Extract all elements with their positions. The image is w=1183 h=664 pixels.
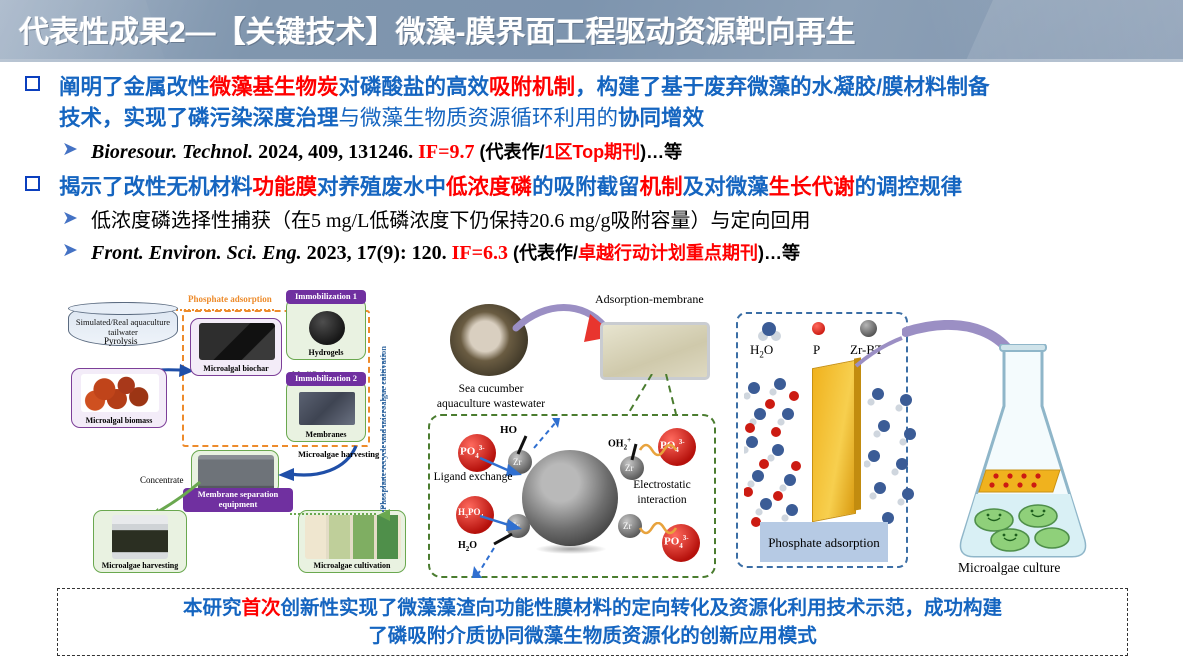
citation-detail: 2023, 17(9): 120. [302, 242, 452, 264]
text-run: 深度治理 [253, 106, 339, 130]
square-bullet-icon [25, 76, 40, 91]
zoom-connector-icon [616, 374, 686, 416]
text-run: 创新性实现了微藻藻渣向功能性膜材料的定向转化及资源化利用技术示范，成功构建 [281, 597, 1003, 619]
text-run: 机制 [640, 175, 683, 199]
ligand-arrow-2-icon [478, 510, 530, 536]
release-arrow-2-icon [470, 546, 506, 584]
recycle-label: Phosphate recycle and microalgae cultiva… [378, 346, 388, 510]
bullet-1-line-1: 阐明了金属改性微藻基生物炭对磷酸盐的高效吸附机制，构建了基于废弃微藻的水凝胶/膜… [59, 75, 990, 99]
microalgal-biomass-card: Microalgal biomass [71, 368, 167, 428]
bullet-1: 阐明了金属改性微藻基生物炭对磷酸盐的高效吸附机制，构建了基于废弃微藻的水凝胶/膜… [0, 72, 1183, 103]
reference-1: ➤ Bioresour. Technol. 2024, 409, 131246.… [0, 138, 1183, 167]
biochar-caption: Microalgal biochar [191, 364, 281, 373]
harvesting-bottle-caption: Microalgae harvesting [94, 561, 186, 570]
arrow-bullet-icon: ➤ [62, 241, 78, 260]
pyrolysis-label: Pyrolysis [104, 336, 138, 346]
equipment-image [198, 455, 274, 491]
adsorption-membrane-image [600, 322, 710, 380]
journal-tier-badge: 卓越行动计划重点期刊 [578, 243, 758, 263]
text-run: 低浓度磷 [446, 175, 532, 199]
hydrogels-card: Hydrogels [286, 298, 366, 360]
page-title: 代表性成果2—【关键技术】微藻-膜界面工程驱动资源靶向再生 [19, 7, 856, 51]
text-run: ，构建了基于废弃微藻的水凝胶/膜材料制备 [575, 75, 989, 99]
ligand-exchange-label: Ligand exchange [432, 470, 514, 485]
electrostatic-interaction-label: Electrostatic interaction [616, 478, 708, 508]
text-run: 阐明了金属改性 [59, 75, 210, 99]
electrostatic-wave-2-icon [638, 522, 688, 548]
phosphate-adsorption-connector [176, 309, 274, 311]
h2o-molecule-icon [754, 320, 784, 342]
text-run: 对磷酸盐的高效 [339, 75, 490, 99]
text-run: 生长代谢 [769, 175, 855, 199]
immobilization-1-badge: Immobilization 1 [286, 290, 366, 304]
text-run: 吸附机制 [489, 75, 575, 99]
biochar-image [199, 323, 275, 360]
arrow-bullet-icon: ➤ [62, 140, 78, 159]
legend-h2o-label: H2O [750, 342, 773, 360]
microalgae-culture-caption: Microalgae culture [958, 560, 1060, 576]
figure-graphic: Phosphate adsorption Simulated/Real aqua… [60, 292, 1138, 582]
membranes-caption: Membranes [287, 430, 365, 439]
journal-name: Bioresour. Technol. [91, 141, 253, 163]
legend-zrbt-icon [860, 320, 877, 337]
impact-factor: IF=6.3 [452, 242, 508, 264]
concentrate-label: Concentrate [140, 475, 183, 485]
text-run: 揭示了改性无机材料 [59, 175, 253, 199]
legend-p-icon [812, 322, 825, 335]
text-run: 了磷吸附介质协同微藻生物质资源化的创新应用模式 [368, 625, 817, 647]
text-run: 的调控规律 [855, 175, 963, 199]
immobilization-2-label: Immobilization 2 [295, 374, 357, 384]
paren-close: )…等 [640, 142, 682, 162]
text-run: 技术，实现了磷污染 [59, 106, 253, 130]
sub-point-text: 低浓度磷选择性捕获（在5 mg/L低磷浓度下仍保持20.6 mg/g吸附容量）与… [91, 210, 810, 232]
text-run: 首次 [241, 597, 280, 619]
zrbt-pointer-icon [850, 336, 910, 370]
erlenmeyer-flask-icon [946, 344, 1106, 574]
legend-p-label: P [813, 342, 820, 358]
immobilization-1-label: Immobilization 1 [295, 292, 357, 302]
hydrogel-bead-image [309, 311, 345, 345]
citation-detail: 2024, 409, 131246. [253, 141, 418, 163]
text-run: 的吸附截留 [532, 175, 640, 199]
text-run: 本研究 [183, 597, 242, 619]
journal-tier-badge: 1区Top期刊 [545, 142, 641, 162]
phosphate-adsorption-box-label: Phosphate adsorption [768, 534, 880, 551]
immobilization-2-badge: Immobilization 2 [286, 372, 366, 386]
harvest-bottle-image [112, 515, 168, 559]
square-bullet-icon [25, 176, 40, 191]
membranes-card: Membranes [286, 380, 366, 442]
membrane-slab-edge [854, 357, 861, 510]
recycle-bottom-connector [290, 513, 376, 515]
text-run: 微藻基生物炭 [210, 75, 339, 99]
microalgae-harvesting-card: Microalgae harvesting [93, 510, 187, 573]
recycle-arrow-icon [376, 508, 396, 522]
biomass-image [81, 374, 159, 412]
biomass-caption: Microalgal biomass [72, 416, 166, 425]
conclusion-box: 本研究首次创新性实现了微藻藻渣向功能性膜材料的定向转化及资源化利用技术示范，成功… [57, 588, 1128, 656]
text-run: 与微藻生物质资源循环利用的 [339, 106, 619, 130]
paren-close: )…等 [758, 243, 800, 263]
membrane-slab [812, 360, 856, 523]
tailwater-label: Simulated/Real aquaculture tailwater [69, 317, 177, 337]
release-arrow-1-icon [530, 416, 570, 452]
cultivation-caption: Microalgae cultivation [299, 561, 405, 570]
impact-factor: IF=9.7 [418, 141, 474, 163]
bullet-1-line-2: 技术，实现了磷污染深度治理与微藻生物质资源循环利用的协同增效 [0, 103, 1183, 134]
conclusion-text: 本研究首次创新性实现了微藻藻渣向功能性膜材料的定向转化及资源化利用技术示范，成功… [62, 593, 1123, 651]
harvesting-label: Microalgae harvesting [298, 449, 379, 459]
text-run: 对养殖废水中 [317, 175, 446, 199]
bullet-2: 揭示了改性无机材料功能膜对养殖废水中低浓度磷的吸附截留机制及对微藻生长代谢的调控… [0, 172, 1183, 203]
conclusion-line-2: 了磷吸附介质协同微藻生物质资源化的创新应用模式 [368, 622, 817, 650]
phosphate-adsorption-box: Phosphate adsorption [760, 522, 888, 562]
paren-open: (代表作/ [508, 243, 578, 263]
text-run: 及对微藻 [683, 175, 769, 199]
paren-open: (代表作/ [475, 142, 545, 162]
electrostatic-wave-1-icon [638, 434, 688, 458]
microalgal-biochar-card: Microalgal biochar [190, 318, 282, 376]
reference-3: ➤ Front. Environ. Sci. Eng. 2023, 17(9):… [0, 239, 1183, 268]
phosphate-adsorption-label: Phosphate adsorption [188, 294, 272, 304]
slide-header: 代表性成果2—【关键技术】微藻-膜界面工程驱动资源靶向再生 [0, 0, 1183, 59]
left-particles-icon [744, 370, 816, 530]
text-run: 功能膜 [253, 175, 318, 199]
sea-cucumber-caption: Sea cucumber aquaculture wastewater [432, 382, 550, 412]
zr-ball-4-label: Zr [623, 521, 632, 531]
hydrogels-caption: Hydrogels [287, 348, 365, 357]
conclusion-line-1: 本研究首次创新性实现了微藻藻渣向功能性膜材料的定向转化及资源化利用技术示范，成功… [183, 594, 1002, 622]
membrane-image [299, 392, 355, 425]
electrostatic-interaction-text: Electrostatic interaction [633, 479, 690, 506]
sea-cucumber-caption-text: Sea cucumber aquaculture wastewater [437, 383, 545, 410]
text-run: 协同增效 [618, 106, 704, 130]
reference-2: ➤ 低浓度磷选择性捕获（在5 mg/L低磷浓度下仍保持20.6 mg/g吸附容量… [0, 207, 1183, 236]
ligand-exchange-text: Ligand exchange [434, 471, 513, 483]
content-body: 阐明了金属改性微藻基生物炭对磷酸盐的高效吸附机制，构建了基于废弃微藻的水凝胶/膜… [0, 62, 1183, 268]
slide-root: 代表性成果2—【关键技术】微藻-膜界面工程驱动资源靶向再生 阐明了金属改性微藻基… [0, 0, 1183, 664]
arrow-bullet-icon: ➤ [62, 209, 78, 228]
zr-particle-shadow [536, 544, 606, 554]
journal-name: Front. Environ. Sci. Eng. [91, 242, 302, 264]
